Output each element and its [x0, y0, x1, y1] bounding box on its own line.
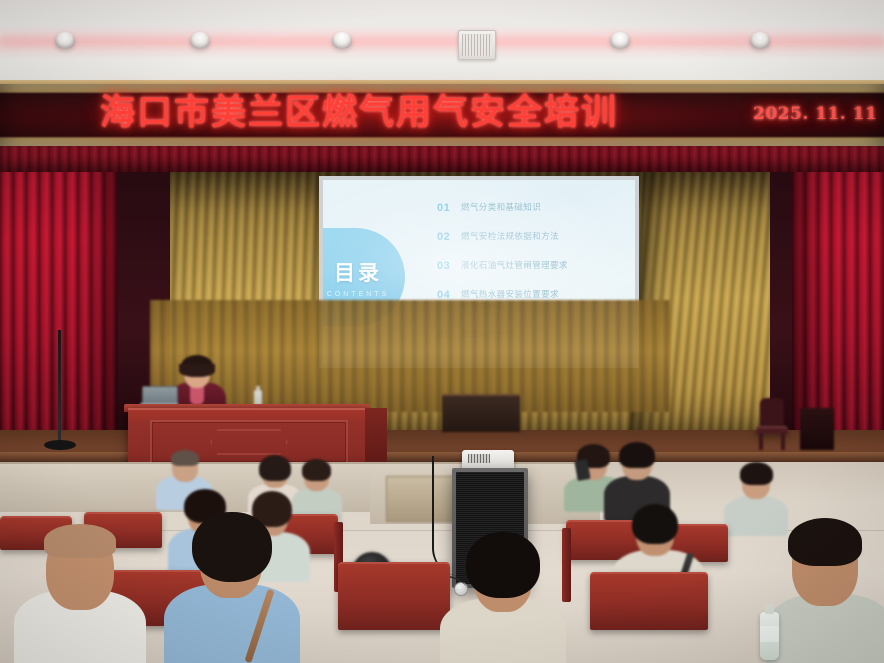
stage-back-wall — [150, 300, 670, 412]
audience-seat[interactable] — [338, 562, 450, 630]
downlight-icon — [332, 32, 352, 49]
list-item-number: 01 — [437, 202, 461, 215]
presenter-shirt — [190, 385, 204, 405]
stage-chair — [756, 398, 788, 450]
audience-hair — [171, 450, 199, 466]
audience-hair — [302, 459, 331, 481]
air-vent-icon — [458, 30, 496, 60]
microphone-base — [44, 440, 76, 450]
contents-badge-cn: 目录 — [334, 257, 382, 287]
list-item-line1: 燃气分类和基础知识 — [461, 203, 541, 213]
ceiling — [0, 0, 884, 86]
microphone-stand — [58, 330, 61, 448]
chair-leg — [781, 433, 785, 450]
list-item-text: 燃气分类和基础知识 — [461, 202, 541, 214]
list-item: 01 燃气分类和基础知识 — [437, 202, 621, 215]
banner-headline: 海口市美兰区燃气用气安全培训 — [100, 86, 618, 140]
contents-badge-en: CONTENTS — [327, 291, 390, 298]
auditorium-scene: 海口市美兰区燃气用气安全培训 2025. 11. 11 目录 CONTENTS … — [0, 0, 884, 663]
list-item-text: 液化石油气灶管闸管理要求 — [461, 260, 568, 272]
audience-member — [14, 528, 146, 663]
audience-hair — [192, 512, 272, 582]
downlight-icon — [610, 32, 630, 49]
stage-valance — [0, 146, 884, 172]
audience-hair — [619, 442, 655, 468]
podium-side — [365, 408, 387, 466]
podium-diamond-molding — [210, 429, 288, 455]
audience-hair — [466, 532, 540, 598]
list-item-text: 燃气安检法规依据和方法 — [461, 231, 559, 243]
audience-hair — [632, 504, 678, 544]
list-item: 03 液化石油气灶管闸管理要求 — [437, 260, 621, 273]
audience-hair — [740, 462, 773, 485]
list-item-line1: 燃气热水器安装位置要求 — [461, 290, 559, 300]
audience-hair — [259, 455, 291, 481]
red-curtain-right — [792, 146, 884, 451]
audience-seat[interactable] — [590, 572, 708, 630]
audience-member — [164, 518, 300, 663]
list-item-number: 02 — [437, 231, 461, 244]
banner-date: 2025. 11. 11 — [753, 104, 877, 124]
audience-hair — [44, 524, 116, 558]
chair-leg — [759, 433, 763, 450]
stage-equipment-box — [800, 408, 834, 450]
chair-back — [760, 398, 784, 428]
list-item-line1: 燃气安检法规依据和方法 — [461, 232, 559, 242]
audience-water-bottle — [760, 612, 779, 660]
presenter-hair — [181, 355, 213, 377]
audience-member — [724, 466, 788, 532]
audience-hair — [788, 518, 862, 566]
downlight-icon — [190, 32, 210, 49]
downlight-icon — [55, 32, 75, 49]
list-item: 02 燃气安检法规依据和方法 — [437, 231, 621, 244]
list-item-line1: 液化石油气灶管闸管理要求 — [461, 261, 568, 271]
list-item-number: 03 — [437, 260, 461, 273]
audience-member — [766, 524, 884, 663]
downlight-icon — [750, 32, 770, 49]
stage-side-cabinet — [442, 394, 520, 432]
audience-member — [440, 540, 566, 663]
projector — [462, 450, 514, 470]
